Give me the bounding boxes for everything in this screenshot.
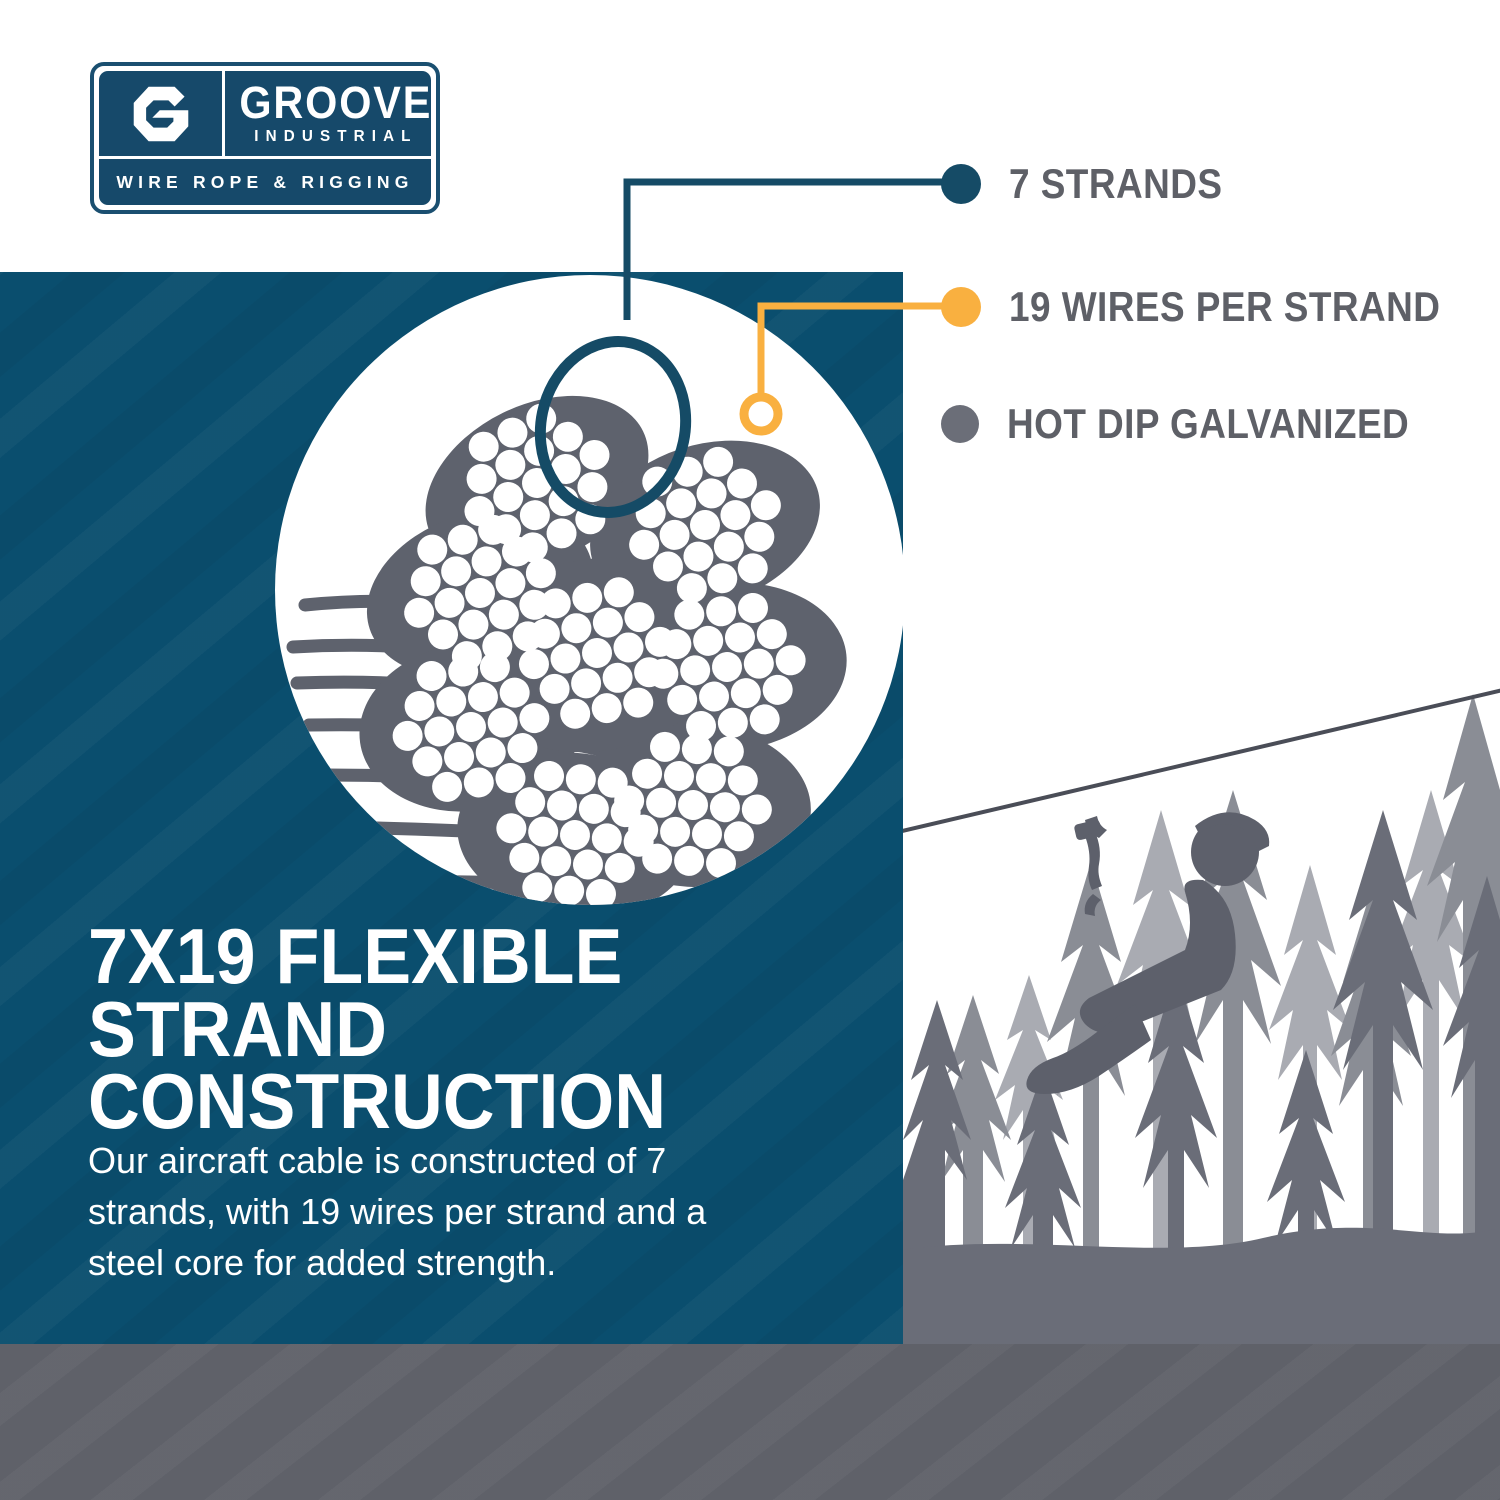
callout-strands[interactable]: 7 STRANDS xyxy=(941,160,1252,208)
brand-logo[interactable]: GROOVE INDUSTRIAL WIRE ROPE & RIGGING xyxy=(90,62,440,214)
callout-dot-galvanized xyxy=(941,405,979,443)
brand-subtitle: INDUSTRIAL xyxy=(254,128,417,146)
wire-rope-cross-section xyxy=(275,275,905,905)
callout-label-galvanized: HOT DIP GALVANIZED xyxy=(1007,400,1409,448)
brand-tagline: WIRE ROPE & RIGGING xyxy=(116,172,413,193)
infographic-page: 7 STRANDS 19 WIRES PER STRAND HOT DIP GA… xyxy=(0,0,1500,1500)
callout-galvanized[interactable]: HOT DIP GALVANIZED xyxy=(941,400,1464,448)
panel-body-copy: Our aircraft cable is constructed of 7 s… xyxy=(88,1135,788,1288)
callout-dot-wires xyxy=(941,287,981,327)
zipline-cable xyxy=(903,690,1500,832)
brand-wordmark: GROOVE INDUSTRIAL xyxy=(225,71,441,156)
callout-dot-strands xyxy=(941,164,981,204)
headline-line-2: STRAND CONSTRUCTION xyxy=(88,993,815,1138)
ground-ridge xyxy=(903,1228,1500,1344)
callout-label-wires: 19 WIRES PER STRAND xyxy=(1009,283,1440,331)
groove-g-icon xyxy=(99,71,225,156)
callout-wires-per-strand[interactable]: 19 WIRES PER STRAND xyxy=(941,283,1499,331)
panel-headline: 7X19 FLEXIBLE STRAND CONSTRUCTION xyxy=(88,920,815,1138)
footer-band xyxy=(0,1344,1500,1500)
callout-label-strands: 7 STRANDS xyxy=(1009,160,1222,208)
brand-name: GROOVE xyxy=(240,81,433,125)
